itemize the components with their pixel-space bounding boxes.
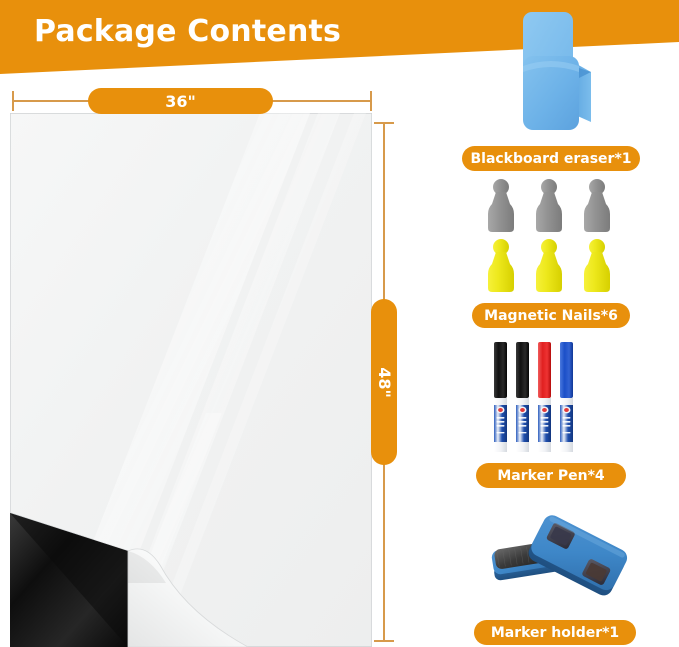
- marker-pen-icon: [492, 342, 588, 452]
- marker-pen-label-pill: Marker Pen*4: [476, 463, 626, 488]
- width-dimension-cap-left: [12, 91, 14, 111]
- blackboard-eraser-label-pill: Blackboard eraser*1: [462, 146, 640, 171]
- marker-holder-label: Marker holder*1: [491, 625, 619, 641]
- blackboard-eraser-label: Blackboard eraser*1: [470, 151, 631, 167]
- height-label-text: 48": [375, 367, 394, 398]
- height-label-pill: 48": [371, 299, 397, 465]
- marker-holder-icon: [480, 512, 630, 604]
- whiteboard-artwork: [10, 113, 372, 647]
- magnetic-nails-icon: [485, 178, 617, 294]
- page-title: Package Contents: [34, 14, 341, 49]
- marker-holder-label-pill: Marker holder*1: [474, 620, 636, 645]
- marker-pen-label: Marker Pen*4: [497, 468, 604, 484]
- magnetic-nails-label: Magnetic Nails*6: [484, 308, 618, 324]
- whiteboard-sheet: [10, 113, 372, 647]
- height-dimension-cap-bottom: [374, 640, 394, 642]
- width-dimension-cap-right: [370, 91, 372, 111]
- package-contents-infographic: Package Contents: [0, 0, 679, 647]
- magnetic-nails-label-pill: Magnetic Nails*6: [472, 303, 630, 328]
- width-label-pill: 36": [88, 88, 273, 114]
- height-dimension-cap-top: [374, 122, 394, 124]
- width-label-text: 36": [165, 92, 196, 111]
- blackboard-eraser-icon: [495, 10, 605, 140]
